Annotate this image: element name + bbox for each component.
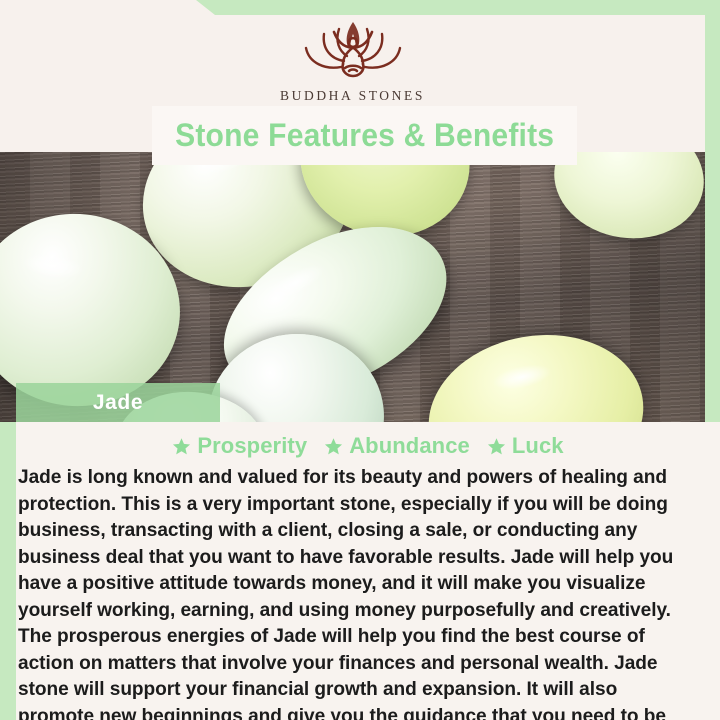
stone-name-banner: Jade <box>16 383 220 422</box>
page-title: Stone Features & Benefits <box>175 117 554 154</box>
infographic-page: BUDDHA STONES Stone Features & Benefits … <box>0 0 720 720</box>
benefit-item-luck: Luck <box>487 433 564 459</box>
title-band: Stone Features & Benefits <box>152 106 577 165</box>
benefit-label: Abundance <box>349 433 470 459</box>
benefit-item-abundance: Abundance <box>324 433 470 459</box>
stone-name-label: Jade <box>93 391 143 415</box>
benefit-label: Luck <box>512 433 564 459</box>
benefits-row: Prosperity Abundance Luck <box>16 422 720 459</box>
content-panel: Prosperity Abundance Luck Jade is long k… <box>16 422 720 720</box>
stone-description: Jade is long known and valued for its be… <box>17 465 720 720</box>
brand-logo: BUDDHA STONES <box>0 18 705 104</box>
star-icon <box>172 437 191 456</box>
benefit-item-prosperity: Prosperity <box>172 433 307 459</box>
benefit-label: Prosperity <box>197 433 307 459</box>
stone-photo <box>0 152 705 422</box>
brand-name: BUDDHA STONES <box>280 88 425 104</box>
star-icon <box>487 437 506 456</box>
lotus-meditation-icon <box>279 18 427 84</box>
star-icon <box>324 437 343 456</box>
